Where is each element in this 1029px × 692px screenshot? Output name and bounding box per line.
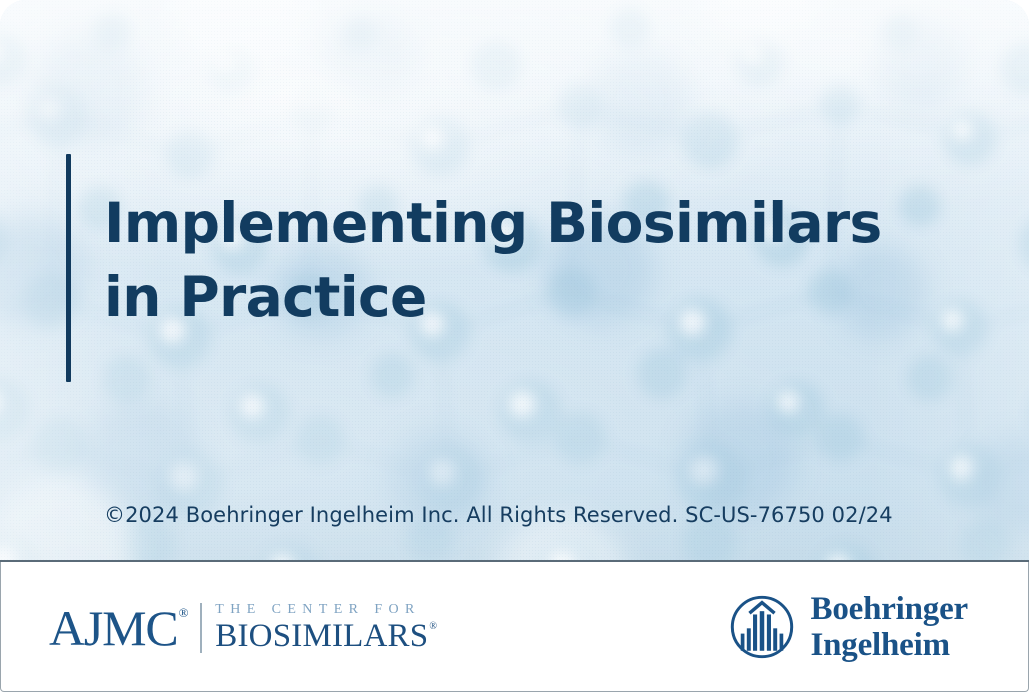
biosimilars-wordmark: BIOSIMILARS ® [215,620,437,653]
copyright-text: ©2024 Boehringer Ingelheim Inc. All Righ… [104,503,893,527]
boehringer-ingelheim-logo[interactable]: Boehringer Ingelheim [729,591,968,663]
ajmc-registered-mark: ® [179,606,188,619]
biosimilars-wordmark-text: BIOSIMILARS [215,620,428,653]
ajmc-divider [200,603,202,653]
boehringer-ingelheim-wordmark: Boehringer Ingelheim [811,591,968,663]
biosimilars-registered-mark: ® [429,622,437,632]
title-accent-rule [66,154,71,382]
ajmc-logo[interactable]: AJMC ® THE CENTER FOR BIOSIMILARS ® [49,602,437,653]
ajmc-wordmark-text: AJMC [49,603,178,653]
page-title: Implementing Biosimilars in Practice [104,186,944,334]
boehringer-ingelheim-logo-icon [729,594,795,660]
footer-logo-bar: AJMC ® THE CENTER FOR BIOSIMILARS ® [0,562,1029,692]
slide-root: Implementing Biosimilars in Practice ©20… [0,0,1029,692]
ajmc-kicker-text: THE CENTER FOR [215,602,437,618]
center-for-biosimilars-lockup: THE CENTER FOR BIOSIMILARS ® [215,602,437,653]
ajmc-wordmark: AJMC ® [49,603,187,653]
hero-image-area: Implementing Biosimilars in Practice ©20… [0,0,1029,562]
